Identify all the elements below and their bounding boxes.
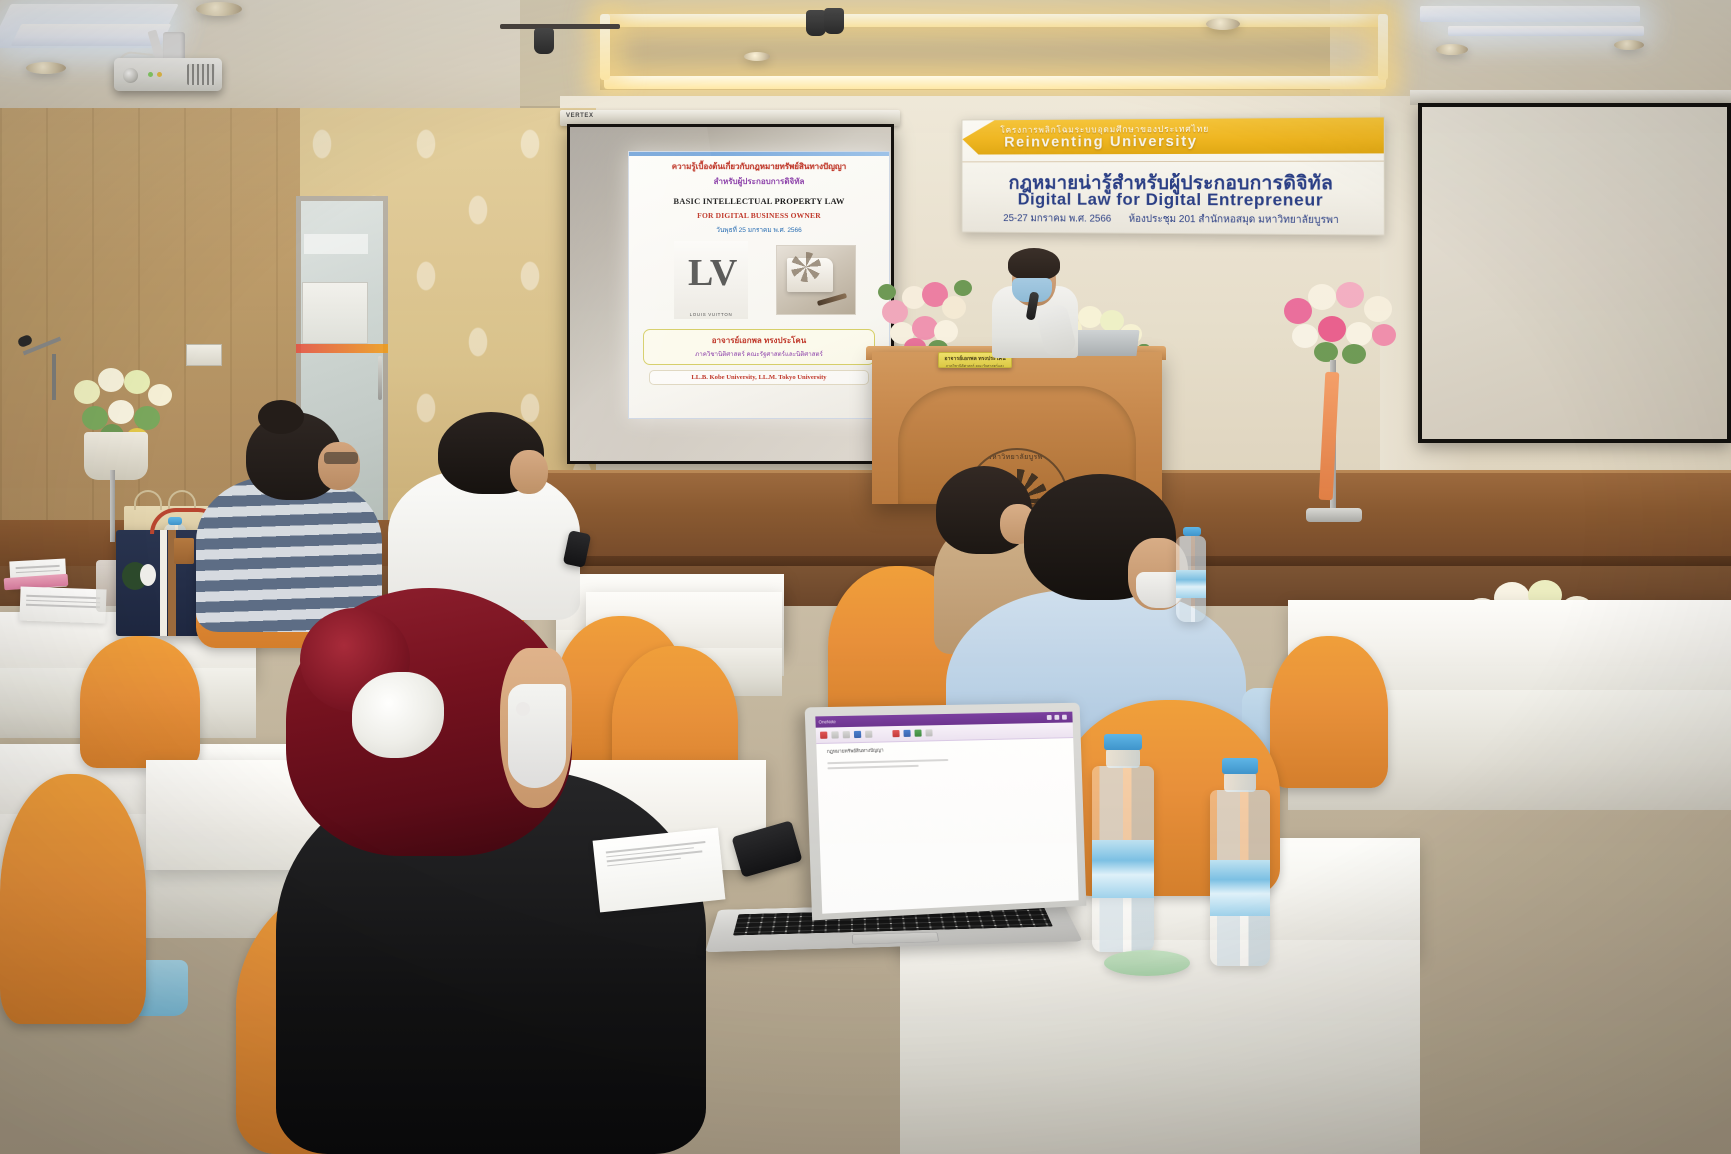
projection-screen-2	[1418, 103, 1731, 443]
bottle-1-cap[interactable]	[1104, 734, 1142, 750]
door-handle[interactable]	[378, 356, 382, 400]
banner-divider	[962, 161, 1383, 163]
attendee-1-bun	[258, 400, 304, 434]
handout-paper-left-2[interactable]	[19, 587, 106, 624]
laptop-trackpad[interactable]	[852, 932, 939, 945]
banner-venue: ห้องประชุม 201 สำนักหอสมุด มหาวิทยาลัยบู…	[1129, 214, 1339, 226]
projector-lens-icon	[123, 68, 138, 83]
ribbon-icon-9[interactable]	[925, 729, 932, 736]
projection-screen-2-surface	[1422, 107, 1727, 439]
downlight-2	[26, 62, 66, 74]
laptop-display: OneNote กฎหมายทรัพย์สินทางปัญญา	[815, 712, 1078, 914]
podium-seal-text: มหาวิทยาลัยบูรพา	[967, 452, 1067, 463]
window-minimize-icon[interactable]	[1047, 715, 1052, 720]
bottle-1-neck	[1106, 748, 1140, 768]
flower-arrangement-stand-top	[1278, 272, 1402, 368]
banner-date: 25-27 มกราคม พ.ศ. 2566	[1003, 213, 1111, 224]
track-light-1	[534, 28, 554, 54]
ribbon-icon-1[interactable]	[820, 732, 827, 739]
banner-program-english: Reinventing University	[1004, 132, 1377, 151]
bottle-3-cap[interactable]	[1183, 527, 1201, 536]
water-bottle-2[interactable]	[1210, 790, 1270, 966]
cove-light-top	[604, 14, 1386, 27]
flower-stand-pole-left	[110, 470, 115, 542]
ribbon-icon-8[interactable]	[914, 730, 921, 737]
downlight-5	[1614, 40, 1644, 50]
door-color-stripe	[296, 344, 388, 353]
track-light-3	[824, 8, 844, 34]
banner-title-english: Digital Law for Digital Entrepreneur	[962, 190, 1383, 211]
chair-right-3[interactable]	[1270, 636, 1388, 788]
water-bottle-1[interactable]	[1092, 766, 1154, 952]
bottle-1-label	[1092, 840, 1154, 898]
ceiling-light-2	[11, 24, 172, 46]
projection-screen: ความรู้เบื้องต้นเกี่ยวกับกฎหมายทรัพย์สิน…	[567, 124, 894, 464]
projector-led-power	[148, 72, 153, 77]
flower-vase-left	[84, 432, 148, 480]
downlight-3	[1206, 18, 1240, 30]
laptop-document-heading: กฎหมายทรัพย์สินทางปัญญา	[827, 743, 1074, 756]
doc-text-line-1	[827, 759, 948, 764]
attendee-3-earring	[516, 702, 530, 716]
cove-light-right	[1378, 14, 1388, 80]
water-bottle-3[interactable]	[1176, 536, 1206, 622]
ceiling-light-3	[1420, 6, 1640, 22]
track-light-2	[806, 10, 826, 36]
projection-screen-surface: ความรู้เบื้องต้นเกี่ยวกับกฎหมายทรัพย์สิน…	[570, 127, 891, 461]
attendee-1-face	[318, 442, 360, 490]
downlight-6	[744, 52, 770, 61]
ribbon-icon-5[interactable]	[865, 731, 872, 738]
nameplate-affiliation: ภาควิชานิติศาสตร์ คณะรัฐศาสตร์และนิติศาส…	[939, 363, 1011, 368]
banner-meta-line: 25-27 มกราคม พ.ศ. 2566 ห้องประชุม 201 สำ…	[962, 211, 1383, 228]
door-notice	[304, 234, 368, 254]
laptop-screen[interactable]: OneNote กฎหมายทรัพย์สินทางปัญญา	[805, 703, 1087, 921]
downlight-1	[196, 2, 242, 16]
attendee-3-face-mask	[508, 684, 566, 788]
cove-light-bottom	[604, 76, 1386, 89]
screen-brand-label: VERTEX	[566, 113, 594, 119]
bottle-2-neck	[1224, 772, 1256, 792]
pen-icon	[817, 293, 847, 306]
seminar-room-photo: VERTEX ความรู้เบื้องต้นเกี่ยวกับกฎหมายทร…	[0, 0, 1731, 1154]
ribbon-icon-2[interactable]	[831, 731, 838, 738]
door-poster	[302, 282, 368, 344]
presenter-hair	[1008, 248, 1060, 280]
ribbon-icon-7[interactable]	[903, 730, 910, 737]
attendee-2-face	[510, 450, 548, 494]
wall-switch-panel[interactable]	[186, 344, 222, 366]
projector-vent	[187, 64, 215, 85]
green-dish[interactable]	[1104, 950, 1190, 976]
handout-paper-foreground[interactable]	[593, 828, 726, 913]
window-close-icon[interactable]	[1062, 715, 1067, 720]
chair-foreground-far-left[interactable]	[0, 774, 146, 1024]
microphone-stand	[22, 330, 82, 388]
ribbon-icon-4[interactable]	[854, 731, 861, 738]
bottle-2-cap[interactable]	[1222, 758, 1258, 774]
notebook-spiral-icon	[791, 252, 821, 282]
ceiling-light-4	[1448, 26, 1644, 36]
projector-led-status	[157, 72, 162, 77]
slide-notebook-image	[776, 245, 856, 315]
bottle-2-label	[1210, 860, 1270, 916]
light-track	[500, 24, 620, 29]
flower-stand-base	[1306, 508, 1362, 522]
chair-row2-left-1[interactable]	[80, 636, 200, 768]
doc-text-line-2	[827, 765, 918, 770]
bag-leather-tag	[174, 538, 194, 564]
bottle-3-label	[1176, 570, 1206, 598]
projector	[114, 58, 222, 91]
attendee-3-hair-bow	[352, 672, 444, 758]
bag-charm-2	[140, 564, 156, 586]
event-banner: โครงการพลิกโฉมระบบอุดมศึกษาของประเทศไทย …	[961, 116, 1384, 235]
ribbon-icon-6[interactable]	[892, 730, 899, 737]
attendee-1-glasses-icon	[324, 452, 358, 464]
downlight-4	[1436, 44, 1468, 55]
window-maximize-icon[interactable]	[1054, 715, 1059, 720]
app-name-label: OneNote	[819, 719, 836, 724]
ribbon-icon-3[interactable]	[843, 731, 850, 738]
